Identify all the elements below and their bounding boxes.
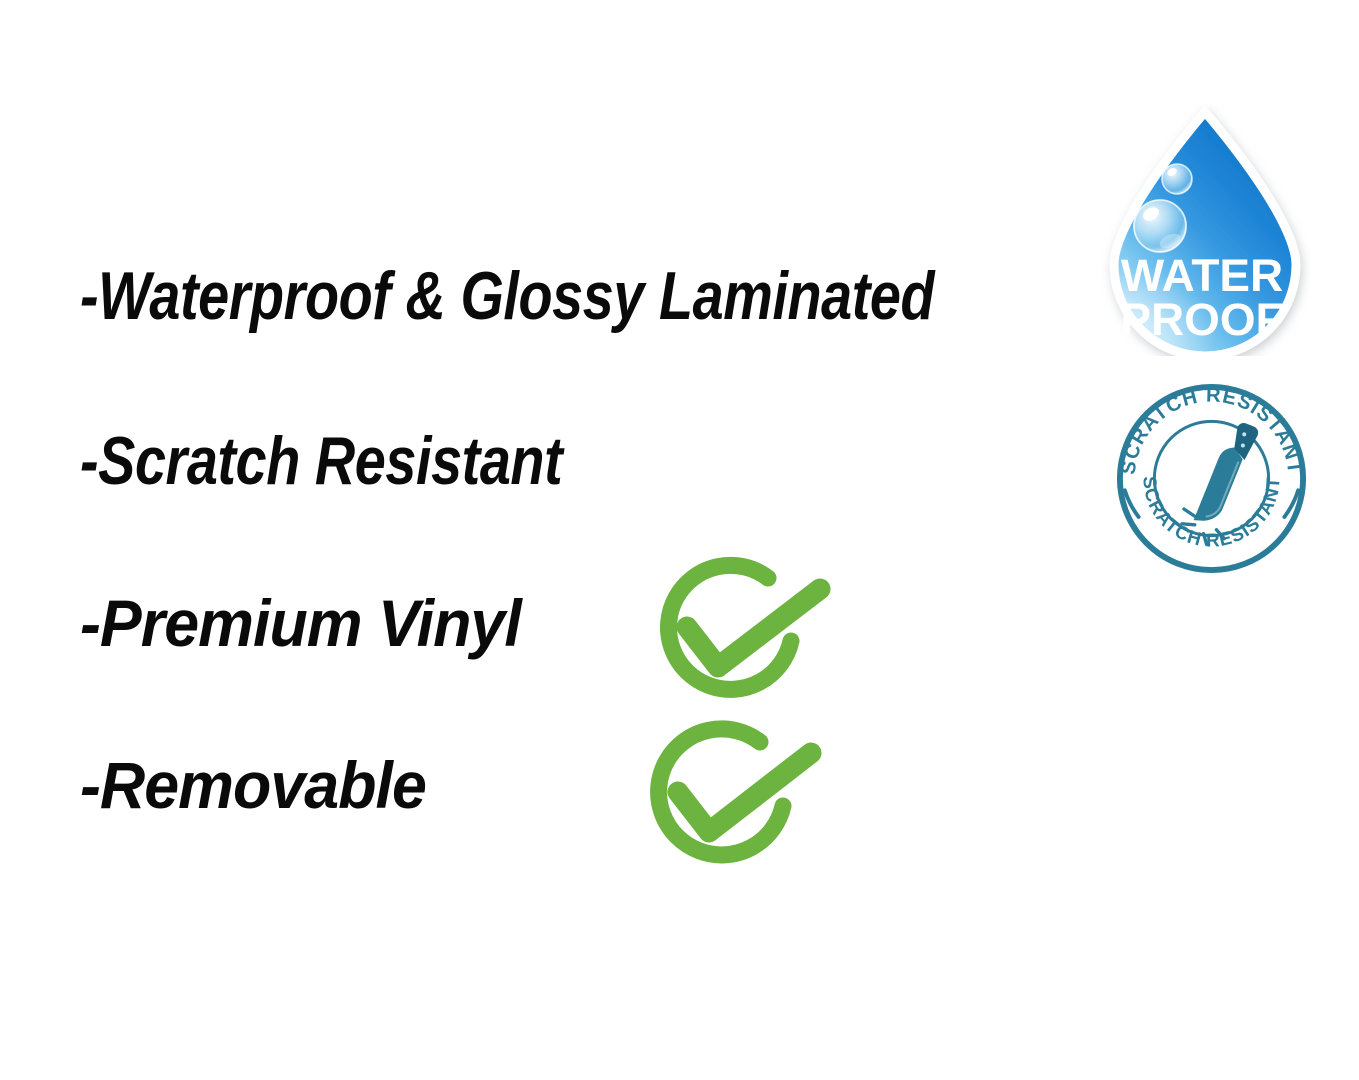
checkmark-premium-vinyl [640, 556, 836, 708]
feature-item-removable: -Removable [80, 752, 426, 818]
bubble-large-icon [1134, 200, 1186, 252]
feature-item-waterproof-glossy-laminated: -Waterproof & Glossy Laminated [80, 262, 934, 330]
feature-item-premium-vinyl: -Premium Vinyl [80, 590, 521, 656]
scratch-resistant-seal-icon: SCRATCH RESISTANT SCRATCH RESISTANT [1113, 380, 1310, 577]
checkmark-removable [630, 718, 826, 874]
product-feature-graphic: -Waterproof & Glossy Laminated -Scratch … [0, 0, 1359, 1080]
waterproof-badge: WATER PROOF [1100, 104, 1310, 356]
seal-text-top: SCRATCH RESISTANT [1118, 384, 1306, 475]
waterproof-text-line2: PROOF [1120, 294, 1283, 344]
water-droplet-icon: WATER PROOF [1100, 104, 1310, 356]
feature-item-scratch-resistant: -Scratch Resistant [80, 427, 562, 495]
check-circle-icon [640, 556, 836, 708]
check-circle-icon [630, 718, 826, 874]
scratch-resistant-badge: SCRATCH RESISTANT SCRATCH RESISTANT [1113, 380, 1310, 577]
waterproof-text-line1: WATER [1121, 250, 1283, 300]
bubble-small-icon [1162, 164, 1192, 194]
check-tick [678, 753, 811, 832]
check-tick [687, 589, 820, 667]
